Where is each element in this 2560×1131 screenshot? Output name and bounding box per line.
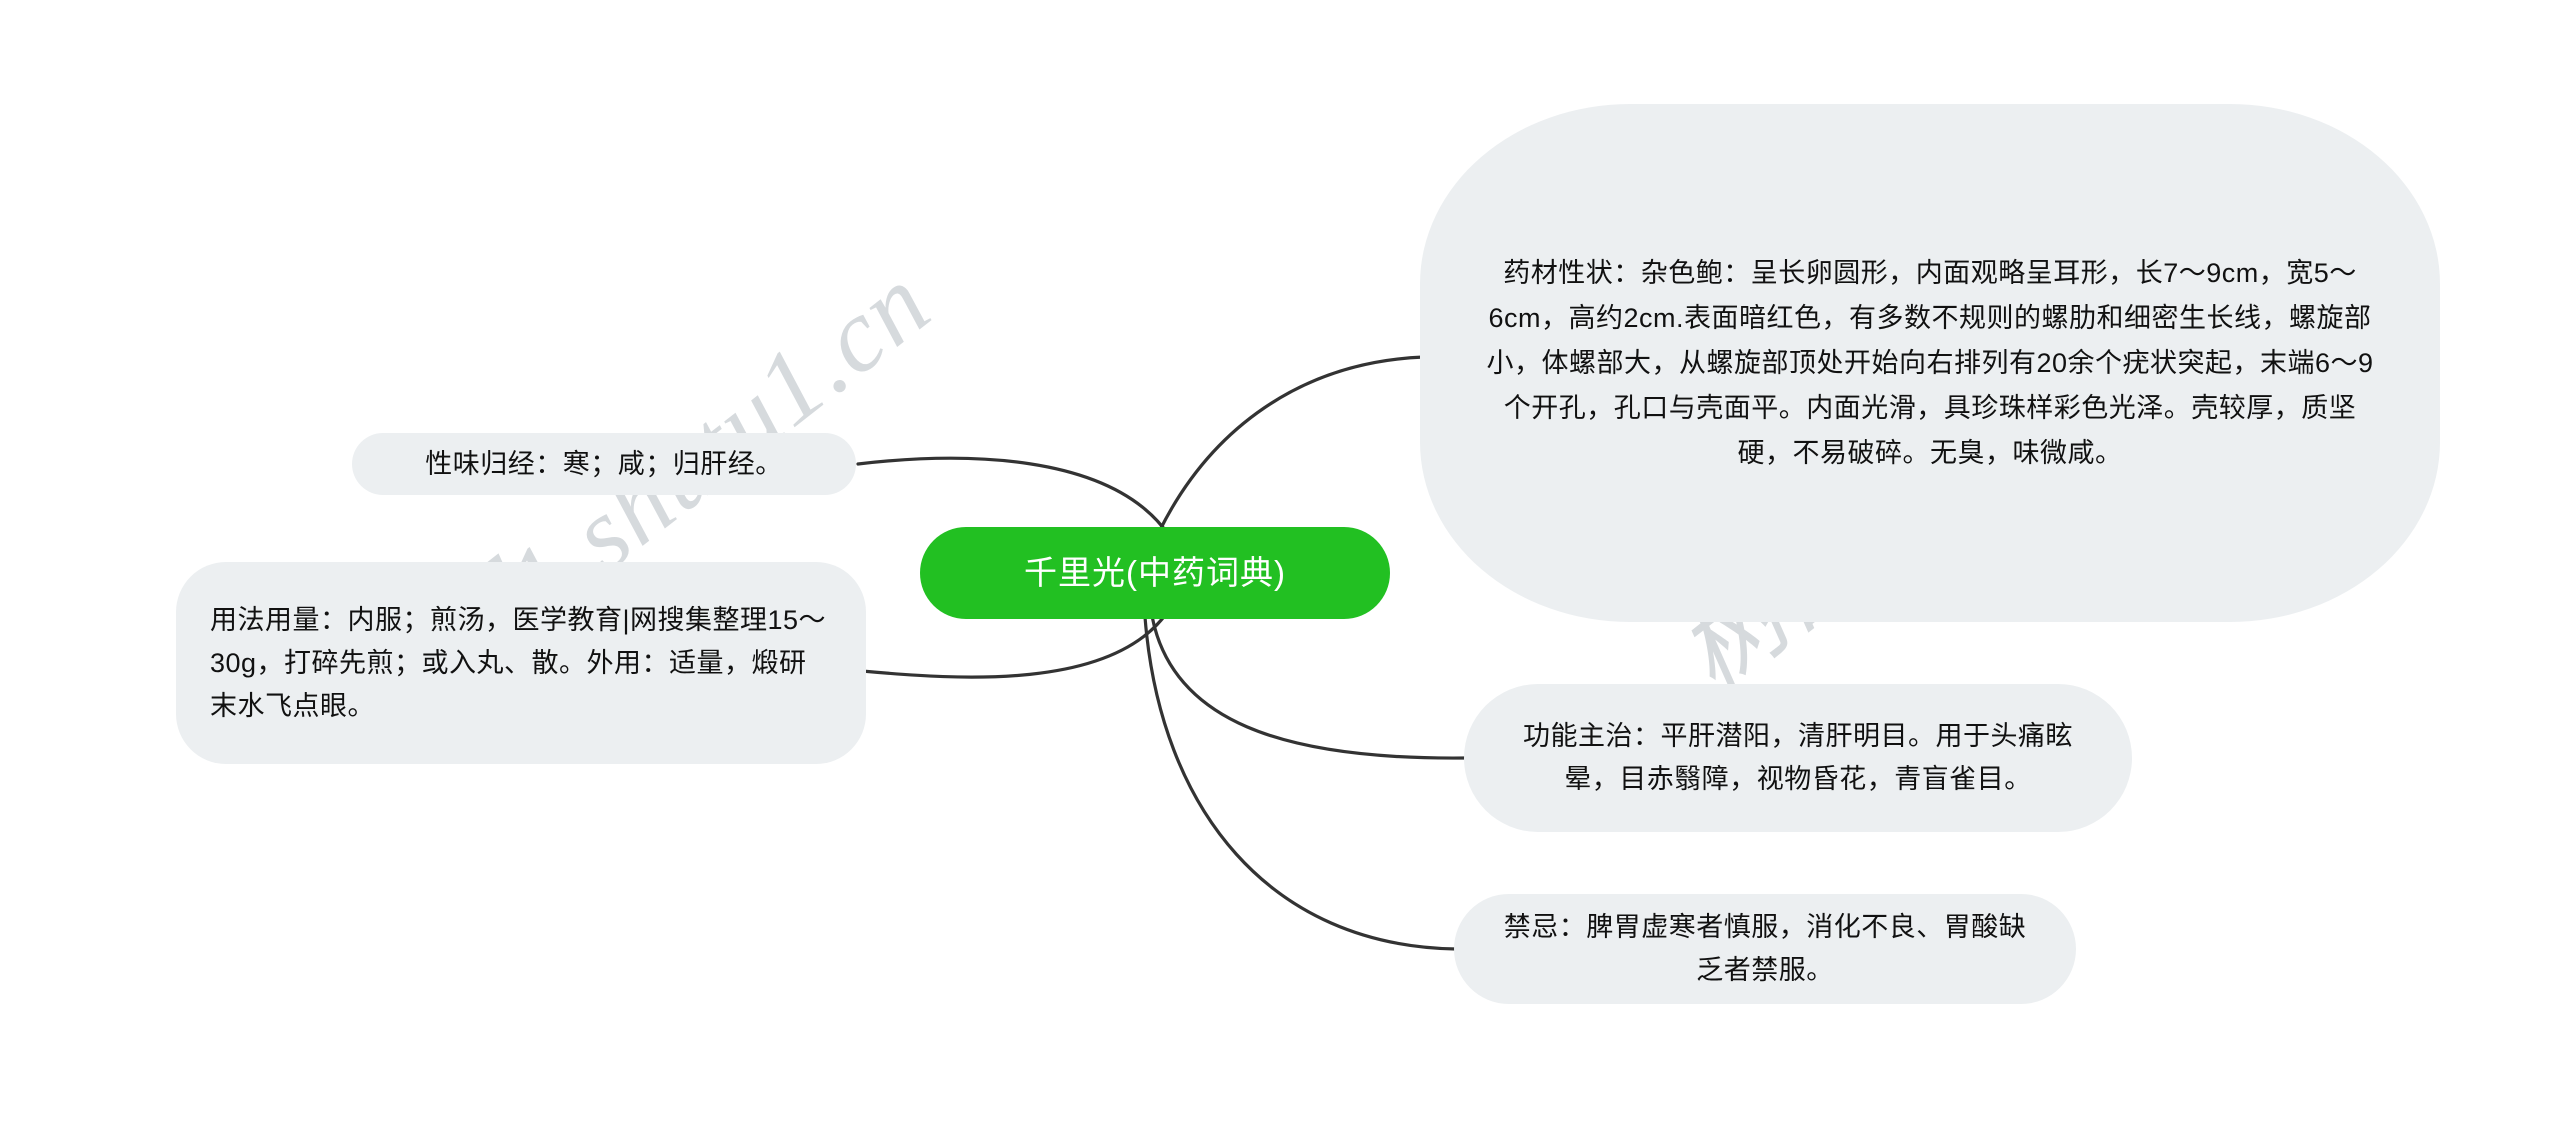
- branch-node-jinji-label: 禁忌：脾胃虚寒者慎服，消化不良、胃酸缺乏者禁服。: [1494, 906, 2036, 992]
- edge-root-to-jinji: [1145, 617, 1456, 949]
- branch-node-gongneng-zhuzhi-label: 功能主治：平肝潜阳，清肝明目。用于头痛眩晕，目赤翳障，视物昏花，青盲雀目。: [1508, 715, 2088, 801]
- mindmap-canvas[interactable]: 树图1 shutu1.cn 树图1 shutu1.cn 千里光(中药词典) 药材…: [0, 0, 2560, 1131]
- edge-root-to-yaocai: [1160, 357, 1424, 530]
- branch-node-xingwei-guijing-label: 性味归经：寒；咸；归肝经。: [425, 443, 783, 486]
- branch-node-jinji[interactable]: 禁忌：脾胃虚寒者慎服，消化不良、胃酸缺乏者禁服。: [1454, 894, 2076, 1004]
- branch-node-yongfa-yongliang[interactable]: 用法用量：内服；煎汤，医学教育|网搜集整理15～30g，打碎先煎；或入丸、散。外…: [176, 562, 866, 764]
- branch-node-gongneng-zhuzhi[interactable]: 功能主治：平肝潜阳，清肝明目。用于头痛眩晕，目赤翳障，视物昏花，青盲雀目。: [1464, 684, 2132, 832]
- edge-root-to-xingwei: [858, 458, 1168, 534]
- branch-node-yaocai-xingzhuang-label: 药材性状：杂色鲍：呈长卵圆形，内面观略呈耳形，长7～9cm，宽5～6cm，高约2…: [1486, 251, 2374, 476]
- branch-node-xingwei-guijing[interactable]: 性味归经：寒；咸；归肝经。: [352, 433, 856, 495]
- edge-root-to-yongfa: [862, 614, 1166, 677]
- root-node[interactable]: 千里光(中药词典): [920, 527, 1390, 619]
- edge-root-to-gongneng: [1152, 616, 1466, 758]
- branch-node-yongfa-yongliang-label: 用法用量：内服；煎汤，医学教育|网搜集整理15～30g，打碎先煎；或入丸、散。外…: [210, 599, 832, 728]
- root-node-label: 千里光(中药词典): [1024, 553, 1286, 593]
- branch-node-yaocai-xingzhuang[interactable]: 药材性状：杂色鲍：呈长卵圆形，内面观略呈耳形，长7～9cm，宽5～6cm，高约2…: [1420, 104, 2440, 622]
